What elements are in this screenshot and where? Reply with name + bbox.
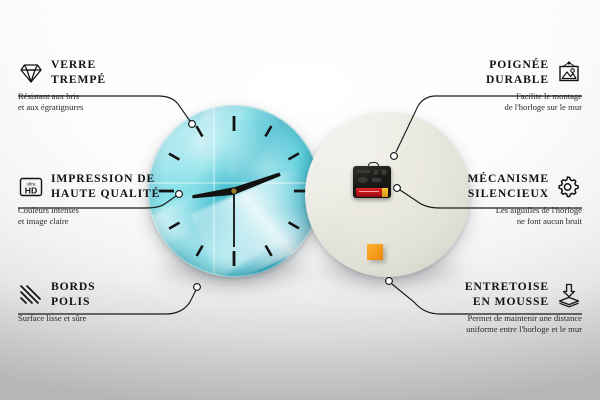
feature-poignee-durable[interactable]: POIGNÉEDURABLE Facilite le montagede l'h…: [432, 58, 582, 114]
feature-description: Permet de maintenir une distanceuniforme…: [412, 309, 582, 336]
feature-description: Surface lisse et sûre: [18, 309, 168, 324]
feature-title: IMPRESSION DEHAUTE QUALITÉ: [51, 172, 160, 201]
feature-heading: POIGNÉEDURABLE: [432, 58, 582, 87]
feature-description: Les aiguilles de l'horlogene font aucun …: [422, 201, 582, 228]
feature-heading: VERRETREMPÉ: [18, 58, 168, 87]
feature-title: ENTRETOISEEN MOUSSE: [465, 280, 549, 309]
diamond-icon: [18, 60, 44, 86]
feature-verre-trempe[interactable]: VERRETREMPÉ Résistant aux briset aux égr…: [18, 58, 168, 114]
feature-heading: ENTRETOISEEN MOUSSE: [412, 280, 582, 309]
feature-mecanisme-silencieux[interactable]: MÉCANISMESILENCIEUX Les aiguilles de l'h…: [422, 172, 582, 228]
feature-impression-haute-qualite[interactable]: ultra HD IMPRESSION DEHAUTE QUALITÉ Coul…: [18, 172, 178, 228]
polished-edge-lines-icon: [18, 282, 44, 308]
feature-description: Résistant aux briset aux égratignures: [18, 87, 168, 114]
feature-entretoise-en-mousse[interactable]: ENTRETOISEEN MOUSSE Permet de maintenir …: [412, 280, 582, 336]
gear-icon: [556, 174, 582, 200]
ultra-hd-icon: ultra HD: [18, 174, 44, 200]
feature-title: MÉCANISMESILENCIEUX: [467, 172, 549, 201]
feature-heading: BORDSPOLIS: [18, 280, 168, 309]
feature-title: VERRETREMPÉ: [51, 58, 106, 87]
feature-description: Couleurs intenseset image claire: [18, 201, 178, 228]
foam-spacer-arrow-icon: [556, 282, 582, 308]
feature-title: BORDSPOLIS: [51, 280, 95, 309]
svg-text:HD: HD: [25, 185, 37, 195]
infographic-canvas: VERRETREMPÉ Résistant aux briset aux égr…: [0, 0, 600, 400]
feature-description: Facilite le montagede l'horloge sur le m…: [432, 87, 582, 114]
picture-hanger-icon: [556, 60, 582, 86]
feature-heading: MÉCANISMESILENCIEUX: [422, 172, 582, 201]
feature-bords-polis[interactable]: BORDSPOLIS Surface lisse et sûre: [18, 280, 168, 324]
feature-heading: ultra HD IMPRESSION DEHAUTE QUALITÉ: [18, 172, 178, 201]
feature-title: POIGNÉEDURABLE: [486, 58, 549, 87]
